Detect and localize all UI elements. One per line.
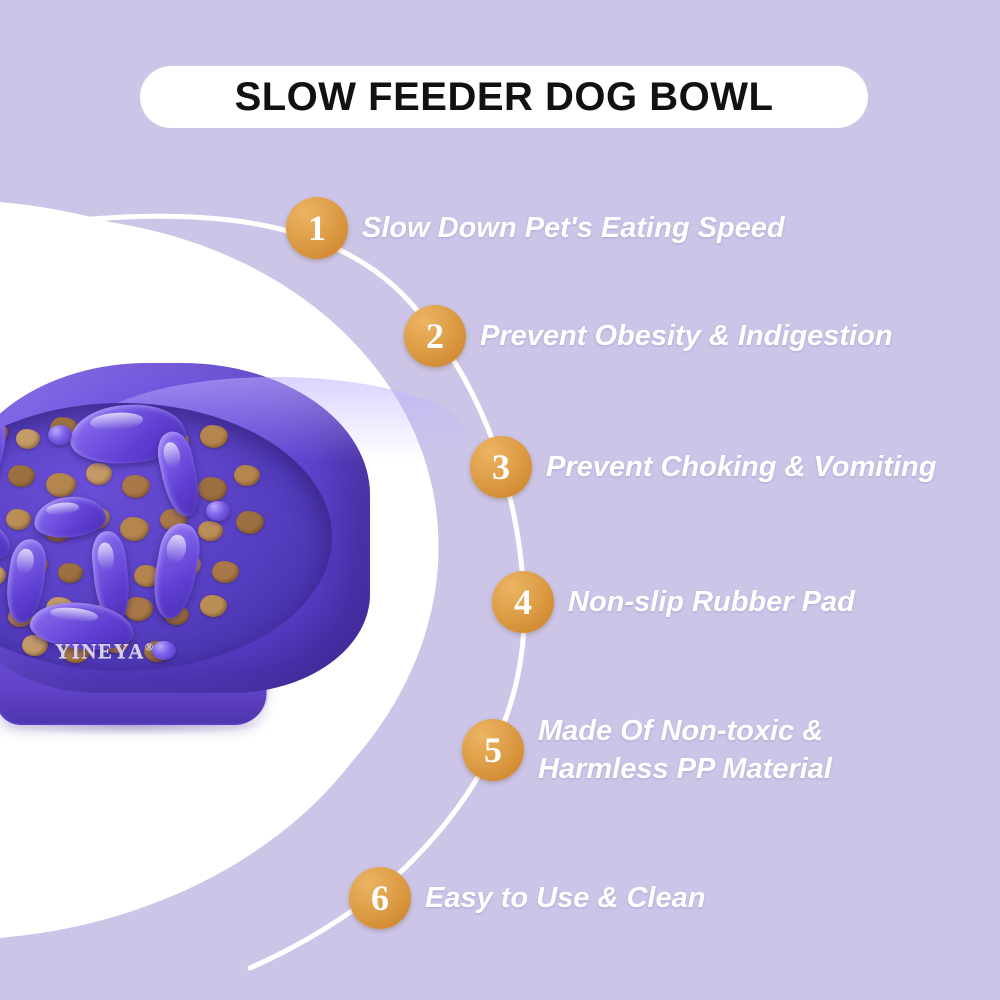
feature-number-1: 1 bbox=[308, 210, 326, 246]
feature-item-1: 1 Slow Down Pet's Eating Speed bbox=[286, 197, 785, 259]
brand-logo: YINEYA® bbox=[55, 639, 155, 664]
feature-number-badge-5: 5 bbox=[462, 719, 524, 781]
feature-text-6: Easy to Use & Clean bbox=[425, 879, 705, 917]
feature-number-2: 2 bbox=[426, 318, 444, 354]
feature-number-badge-4: 4 bbox=[492, 571, 554, 633]
feature-text-5: Made Of Non-toxic & Harmless PP Material bbox=[538, 712, 832, 789]
feature-number-3: 3 bbox=[492, 449, 510, 485]
feature-item-3: 3 Prevent Choking & Vomiting bbox=[470, 436, 936, 498]
feature-text-1: Slow Down Pet's Eating Speed bbox=[362, 209, 785, 247]
feature-item-4: 4 Non-slip Rubber Pad bbox=[492, 571, 855, 633]
feature-text-5-line1: Made Of Non-toxic & bbox=[538, 715, 823, 747]
feature-number-badge-2: 2 bbox=[404, 305, 466, 367]
feature-text-5-line2: Harmless PP Material bbox=[538, 750, 832, 788]
feature-number-badge-1: 1 bbox=[286, 197, 348, 259]
brand-name: YINEYA bbox=[55, 639, 145, 663]
feature-number-badge-3: 3 bbox=[470, 436, 532, 498]
title-banner: SLOW FEEDER DOG BOWL bbox=[140, 66, 868, 128]
feature-item-5: 5 Made Of Non-toxic & Harmless PP Materi… bbox=[462, 712, 832, 789]
feature-number-badge-6: 6 bbox=[349, 867, 411, 929]
feature-number-6: 6 bbox=[371, 880, 389, 916]
registered-mark: ® bbox=[145, 641, 155, 653]
feature-item-6: 6 Easy to Use & Clean bbox=[349, 867, 705, 929]
infographic-canvas: YINEYA® SLOW FEEDER DOG BOWL 1 Slow Down… bbox=[0, 0, 1000, 1000]
feature-text-4: Non-slip Rubber Pad bbox=[568, 583, 855, 621]
feature-number-4: 4 bbox=[514, 584, 532, 620]
feature-text-2: Prevent Obesity & Indigestion bbox=[480, 317, 893, 355]
product-image: YINEYA® bbox=[0, 355, 410, 775]
page-title: SLOW FEEDER DOG BOWL bbox=[235, 75, 774, 120]
feature-item-2: 2 Prevent Obesity & Indigestion bbox=[404, 305, 893, 367]
feature-text-3: Prevent Choking & Vomiting bbox=[546, 448, 936, 486]
feature-number-5: 5 bbox=[484, 732, 502, 768]
